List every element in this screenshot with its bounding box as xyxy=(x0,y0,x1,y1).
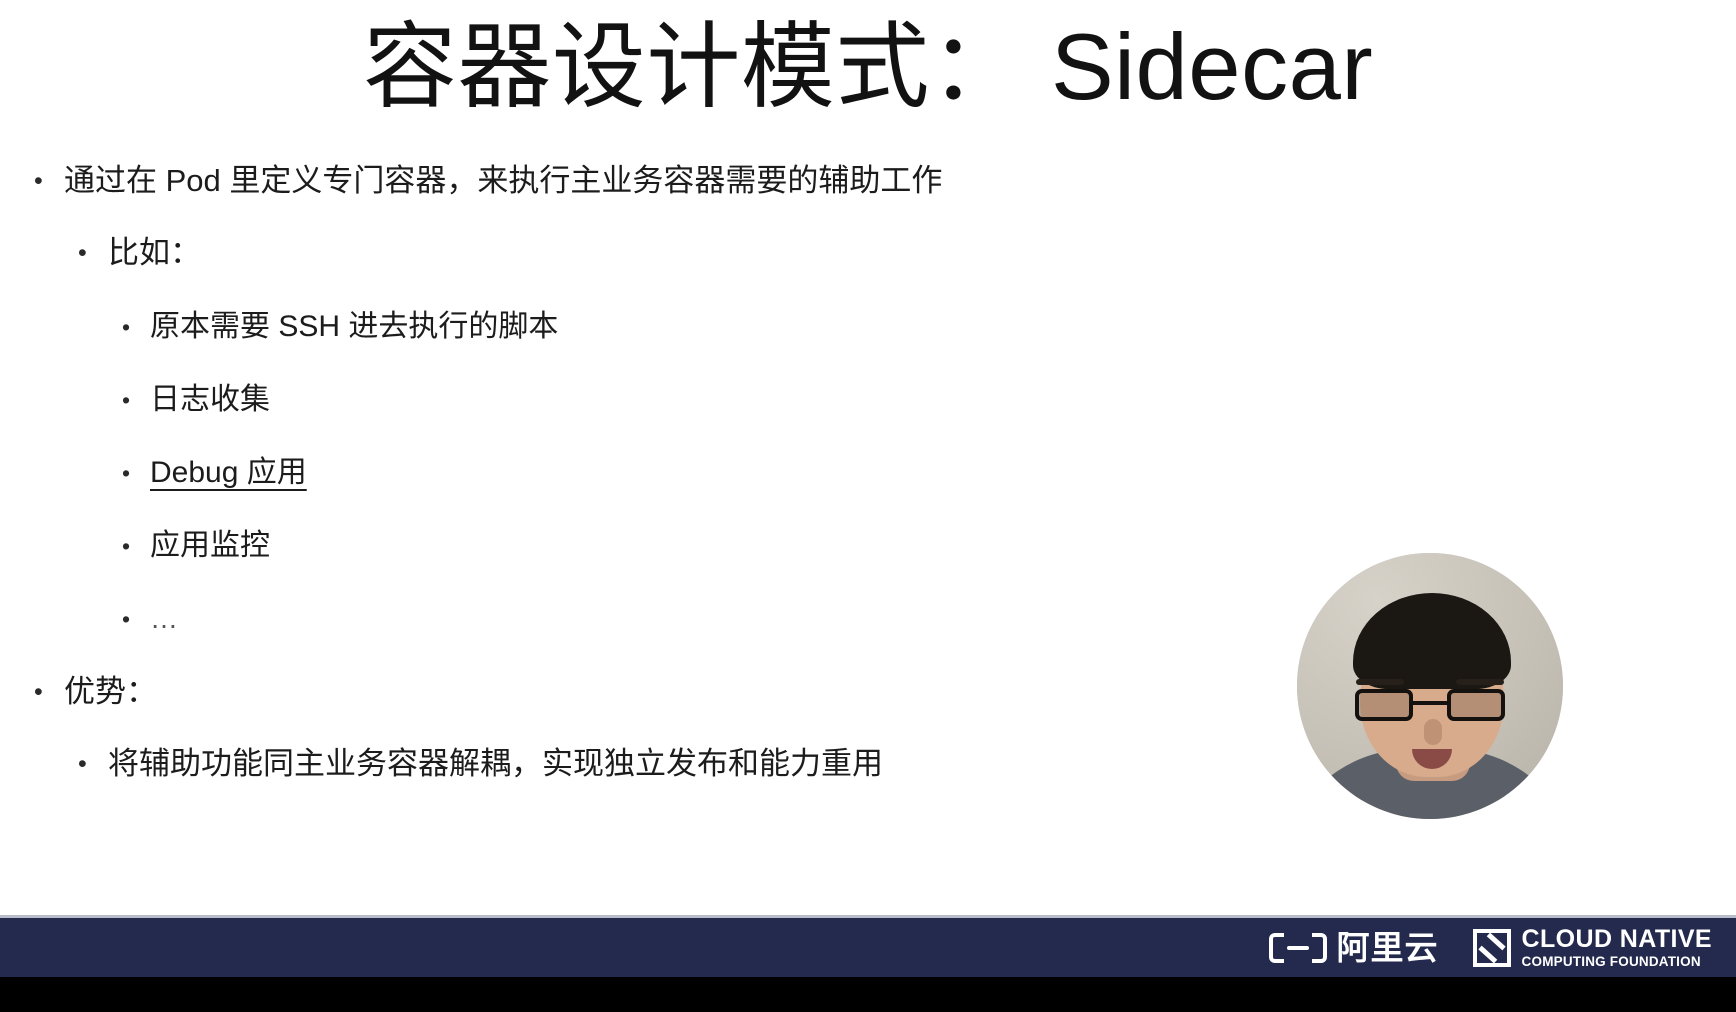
bullet-text: 应用监控 xyxy=(150,530,270,562)
glasses-bridge xyxy=(1413,701,1447,705)
slide-surface: 容器设计模式： Sidecar • 通过在 Pod 里定义专门容器，来执行主业务… xyxy=(0,0,1736,915)
bullet-text: 通过在 Pod 里定义专门容器，来执行主业务容器需要的辅助工作 xyxy=(64,165,942,197)
cncf-logo: CLOUD NATIVE COMPUTING FOUNDATION xyxy=(1473,927,1712,969)
bullet-marker-icon: • xyxy=(78,748,108,780)
bullet-marker-icon: • xyxy=(122,384,150,416)
bullet-text: 优势： xyxy=(64,676,157,708)
bullet-item: • 优势： xyxy=(0,676,1450,708)
alibaba-cloud-logo: 阿里云 xyxy=(1269,931,1439,965)
cncf-mark-icon xyxy=(1473,929,1511,967)
glasses-lens-right xyxy=(1447,689,1505,721)
bullet-item: • 日志收集 xyxy=(0,384,1450,416)
presenter-webcam-bubble[interactable] xyxy=(1297,553,1563,819)
bullet-item: • Debug 应用 xyxy=(0,457,1450,489)
bullet-text: 比如： xyxy=(108,237,201,269)
bullet-item: • 通过在 Pod 里定义专门容器，来执行主业务容器需要的辅助工作 xyxy=(0,165,1450,197)
bullet-marker-icon: • xyxy=(122,603,150,635)
bullet-marker-icon: • xyxy=(122,311,150,343)
page-title: 容器设计模式： Sidecar xyxy=(0,12,1736,123)
alibaba-cloud-wordmark: 阿里云 xyxy=(1337,931,1439,965)
slide-body: • 通过在 Pod 里定义专门容器，来执行主业务容器需要的辅助工作 • 比如： … xyxy=(0,165,1450,822)
glasses-lens-left xyxy=(1355,689,1413,721)
bullet-text-underlined: Debug 应用 xyxy=(150,457,307,489)
bullet-marker-icon: • xyxy=(78,237,108,269)
glasses-icon xyxy=(1355,689,1505,723)
bullet-marker-icon: • xyxy=(34,165,64,197)
bullet-marker-icon: • xyxy=(122,530,150,562)
cncf-wordmark: CLOUD NATIVE COMPUTING FOUNDATION xyxy=(1522,927,1712,969)
bullet-item: • 应用监控 xyxy=(0,530,1450,562)
alibaba-cloud-mark-icon xyxy=(1269,933,1327,963)
bullet-item: • 原本需要 SSH 进去执行的脚本 xyxy=(0,311,1450,343)
bullet-text: 原本需要 SSH 进去执行的脚本 xyxy=(150,311,558,343)
bullet-text-ellipsis: … xyxy=(150,603,181,635)
bullet-marker-icon: • xyxy=(122,457,150,489)
slide-root: 容器设计模式： Sidecar • 通过在 Pod 里定义专门容器，来执行主业务… xyxy=(0,0,1736,1012)
footer-logo-group: 阿里云 CLOUD NATIVE COMPUTING FOUNDATION xyxy=(1269,918,1712,977)
cncf-line-1: CLOUD NATIVE xyxy=(1522,927,1712,952)
webcam-nose xyxy=(1424,719,1442,745)
bottom-letterbox xyxy=(0,977,1736,1012)
bullet-item: • 比如： xyxy=(0,237,1450,269)
webcam-eyebrow-right xyxy=(1456,679,1504,685)
webcam-eyebrow-left xyxy=(1356,679,1404,685)
bullet-text: 日志收集 xyxy=(150,384,270,416)
bullet-marker-icon: • xyxy=(34,676,64,708)
bullet-item: • 将辅助功能同主业务容器解耦，实现独立发布和能力重用 xyxy=(0,748,1450,780)
bullet-item: • … xyxy=(0,603,1450,635)
footer-bar: 阿里云 CLOUD NATIVE COMPUTING FOUNDATION xyxy=(0,915,1736,977)
cncf-line-2: COMPUTING FOUNDATION xyxy=(1522,955,1712,969)
bullet-text: 将辅助功能同主业务容器解耦，实现独立发布和能力重用 xyxy=(108,748,883,780)
